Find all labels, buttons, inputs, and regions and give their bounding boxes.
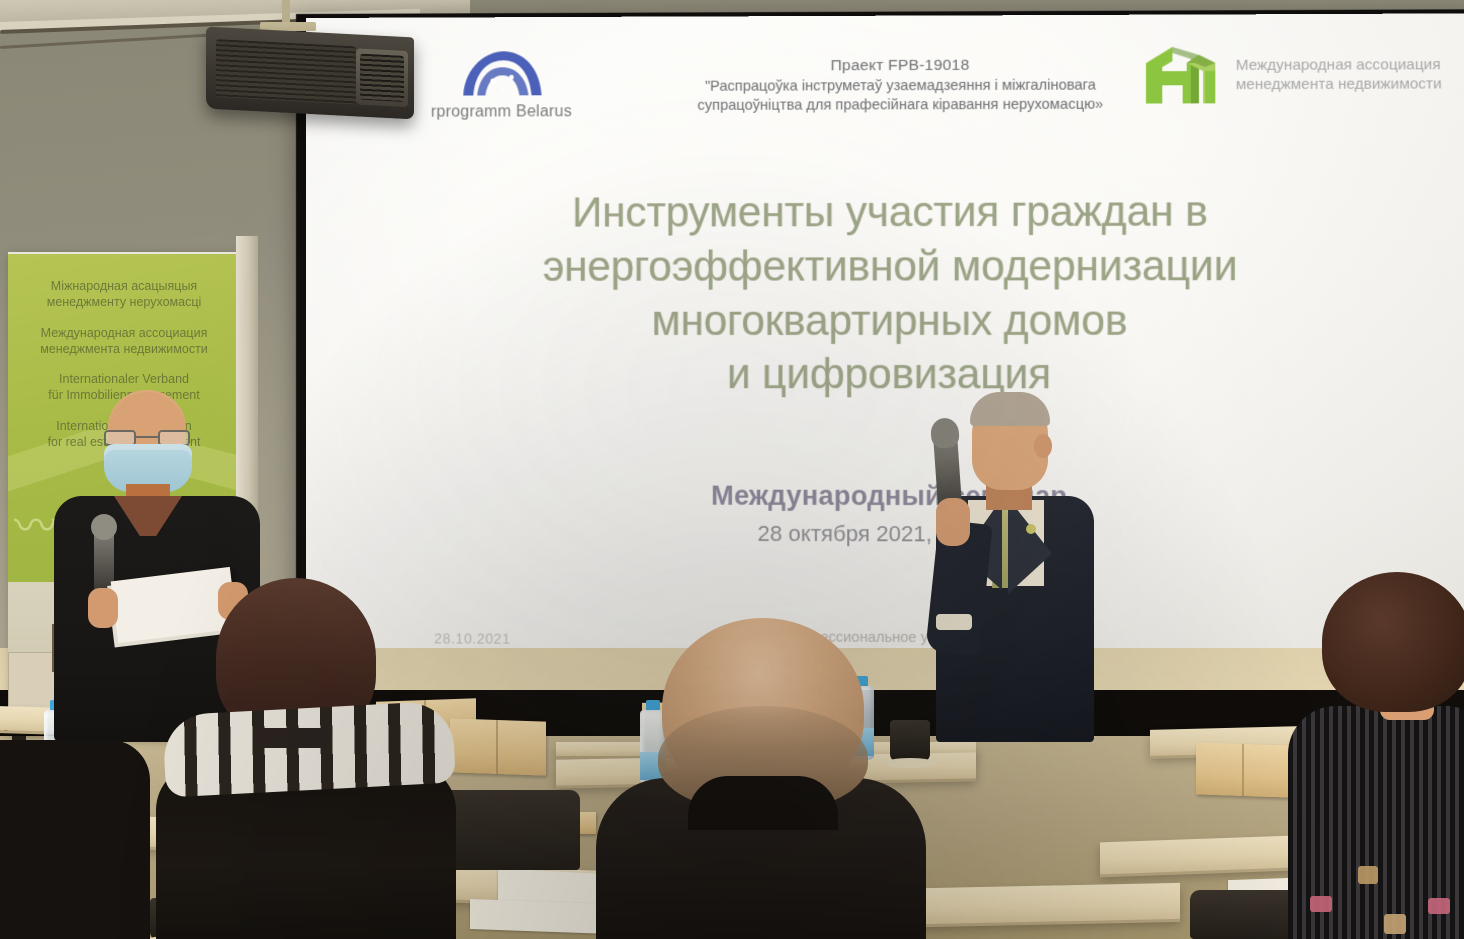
iamm-logo-text: Международная ассоциация менеджмента нед… — [1236, 56, 1442, 95]
banner-text-be: Міжнародная асацыяцыя менеджменту нерухо… — [8, 278, 240, 311]
iamm-logo: Международная ассоциация менеджмента нед… — [1142, 40, 1442, 112]
speaker-right-hair — [970, 392, 1050, 426]
conference-photo-scene: rprogramm Belarus Праект FPB-19018 "Расп… — [0, 0, 1464, 939]
name-tent-card — [450, 718, 546, 775]
project-name-line1: "Распрацоўка інструметаў узаемадзеяння і… — [637, 76, 1164, 97]
speaker-right-hand — [936, 498, 970, 546]
audience-hair — [1322, 572, 1464, 712]
ceiling-projector — [206, 27, 414, 120]
banner-text-ru: Международная ассоциация менеджмента нед… — [8, 325, 240, 358]
audience-partial-figure-left — [0, 680, 150, 939]
audience-woman-in-patterned-dress — [1288, 572, 1464, 939]
audience-body — [0, 740, 150, 939]
belarus-wave-icon — [453, 45, 549, 101]
slide-title-line-3: многоквартирных домов — [306, 293, 1464, 348]
iamm-line2: менеджмента недвижимости — [1236, 75, 1442, 95]
fur-collar — [162, 700, 456, 797]
event-date-place: 28 октября 2021, г. Минск — [306, 520, 1464, 549]
banner-line-1: Міжнародная асацыяцыя — [8, 278, 240, 294]
audience-man-with-short-grey-hair — [596, 618, 926, 939]
collar-clasp — [254, 728, 330, 748]
slide-header: rprogramm Belarus Праект FPB-19018 "Расп… — [306, 32, 1464, 136]
dress-motif — [1428, 898, 1450, 914]
belarus-logo-caption: rprogramm Belarus — [426, 103, 577, 121]
slide-footer-date: 28.10.2021 — [434, 630, 510, 646]
dress-motif — [1384, 914, 1406, 934]
patterned-dress — [1288, 706, 1464, 939]
project-code: Праект FPB-19018 — [637, 55, 1164, 78]
eyeglasses-bridge — [136, 436, 158, 438]
dress-motif — [1310, 896, 1332, 912]
green-house-icon — [1142, 41, 1226, 112]
banner-top-rail — [8, 252, 240, 254]
banner-line-2: менеджменту нерухомасці — [8, 294, 240, 310]
slide-title-line-4: и цифровизация — [306, 347, 1464, 401]
name-tent-card — [1196, 742, 1292, 797]
speaker-with-microphone — [930, 396, 1100, 742]
banner-line-5: Internationaler Verband — [8, 371, 240, 387]
slide-title-line-1: Инструменты участия граждан в — [306, 184, 1464, 240]
audience-woman-in-fur-trimmed-coat — [142, 578, 442, 939]
speaker-left-hand-right — [88, 588, 118, 628]
project-header: Праект FPB-19018 "Распрацоўка інструмета… — [637, 55, 1164, 117]
speaker-right-shirt-cuff — [936, 614, 972, 630]
slide-subtitle: Международный семинар 28 октября 2021, г… — [306, 480, 1464, 549]
banner-line-4: менеджмента недвижимости — [8, 341, 240, 357]
iamm-line1: Международная ассоциация — [1236, 56, 1442, 76]
project-name-line2: супрацоўніцтва для прафесійнага кіраванн… — [637, 96, 1164, 117]
banner-line-3: Международная ассоциация — [8, 325, 240, 341]
dress-motifs — [1288, 706, 1464, 939]
slide-title-line-2: энергоэффективной модернизации — [306, 238, 1464, 293]
foerderprogramm-belarus-logo: rprogramm Belarus — [426, 45, 577, 122]
lapel-pin-icon — [1026, 524, 1036, 534]
slide-title: Инструменты участия граждан в энергоэффе… — [306, 184, 1464, 402]
event-label: Международный семинар — [306, 480, 1464, 513]
dress-motif — [1358, 866, 1378, 884]
projector-lens — [356, 48, 408, 107]
speaker-right-ear — [1034, 434, 1052, 458]
projector-vent — [216, 39, 356, 104]
audience-jacket-collar — [688, 776, 838, 830]
